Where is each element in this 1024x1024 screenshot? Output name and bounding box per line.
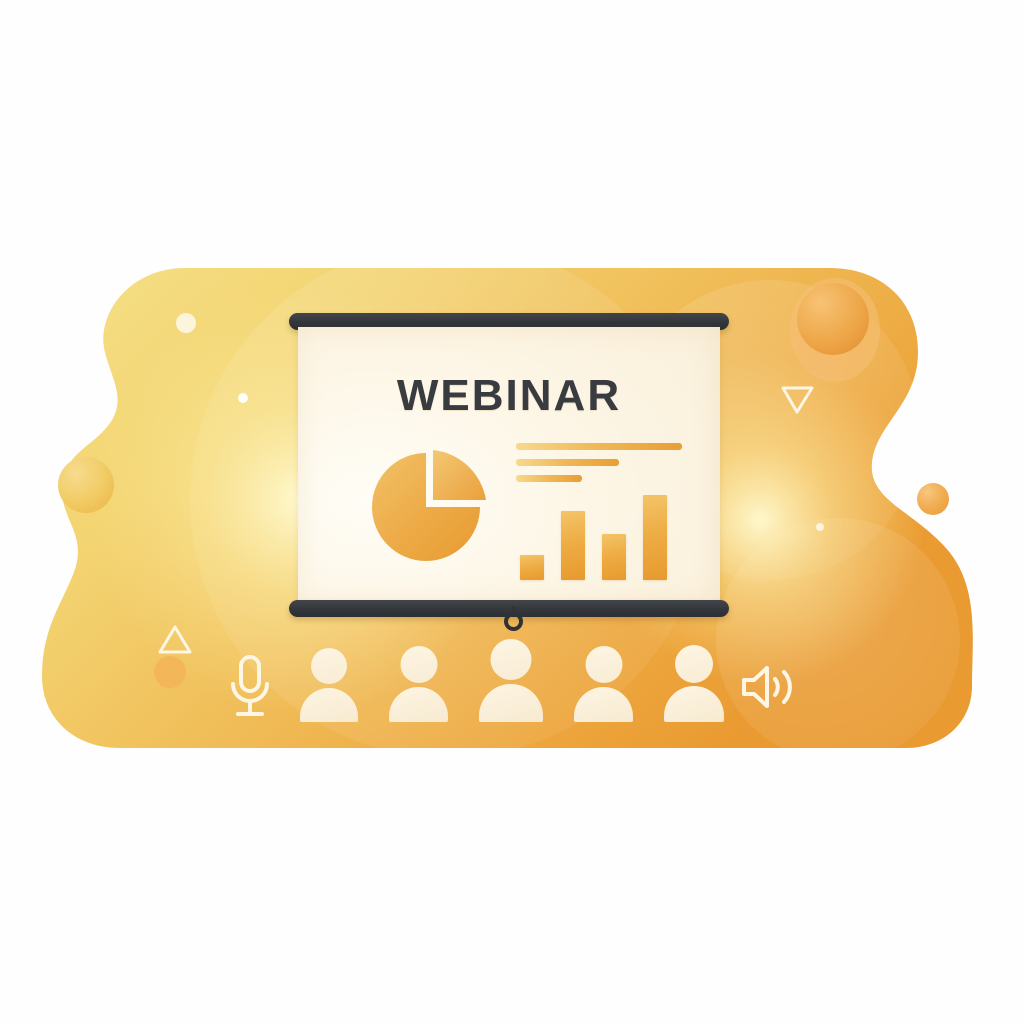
text-line-1	[516, 443, 682, 450]
bar-4	[643, 495, 667, 581]
pie-chart-svg	[372, 449, 488, 565]
speaker-glyph	[740, 664, 798, 710]
avatar-head	[491, 639, 532, 680]
text-line-3	[516, 475, 582, 482]
pull-ring-handle[interactable]	[504, 612, 523, 631]
page-title: WEBINAR	[298, 371, 720, 421]
bar-3	[602, 534, 626, 580]
attendee-avatar[interactable]	[389, 646, 448, 722]
presentation-screen[interactable]: WEBINAR	[289, 313, 729, 625]
bar-2	[561, 511, 585, 580]
pie-chart	[372, 449, 488, 565]
microphone-icon[interactable]	[226, 654, 274, 720]
attendee-avatar[interactable]	[664, 645, 724, 722]
text-lines-group	[516, 443, 682, 491]
avatar-body	[389, 687, 448, 722]
pie-slice-quarter	[433, 450, 486, 500]
avatar-body	[574, 687, 633, 722]
decorative-sphere-right	[917, 483, 949, 515]
microphone-glyph	[226, 654, 274, 720]
text-line-2	[516, 459, 619, 466]
avatar-body	[300, 688, 358, 722]
attendee-avatar[interactable]	[479, 639, 543, 722]
attendee-avatar[interactable]	[574, 646, 633, 722]
avatar-head	[311, 648, 347, 684]
avatar-body	[479, 684, 543, 722]
decorative-dot-top-left	[176, 313, 196, 333]
avatar-body	[664, 686, 724, 722]
screen-canvas: WEBINAR	[298, 327, 720, 604]
attendee-avatar[interactable]	[300, 648, 358, 722]
bar-1	[520, 555, 544, 580]
decorative-sphere-top-right	[797, 283, 869, 355]
avatar-head	[400, 646, 437, 683]
illustration-canvas: WEBINAR	[0, 0, 1024, 1024]
decorative-dot-right	[816, 523, 824, 531]
speaker-icon[interactable]	[740, 664, 798, 710]
avatar-head	[585, 646, 622, 683]
decorative-sphere-left	[58, 457, 114, 513]
bar-chart	[520, 485, 680, 580]
avatar-head	[675, 645, 713, 683]
decorative-sphere-bottom-left	[154, 656, 186, 688]
audience-row	[300, 638, 724, 722]
decorative-dot-left	[238, 393, 248, 403]
